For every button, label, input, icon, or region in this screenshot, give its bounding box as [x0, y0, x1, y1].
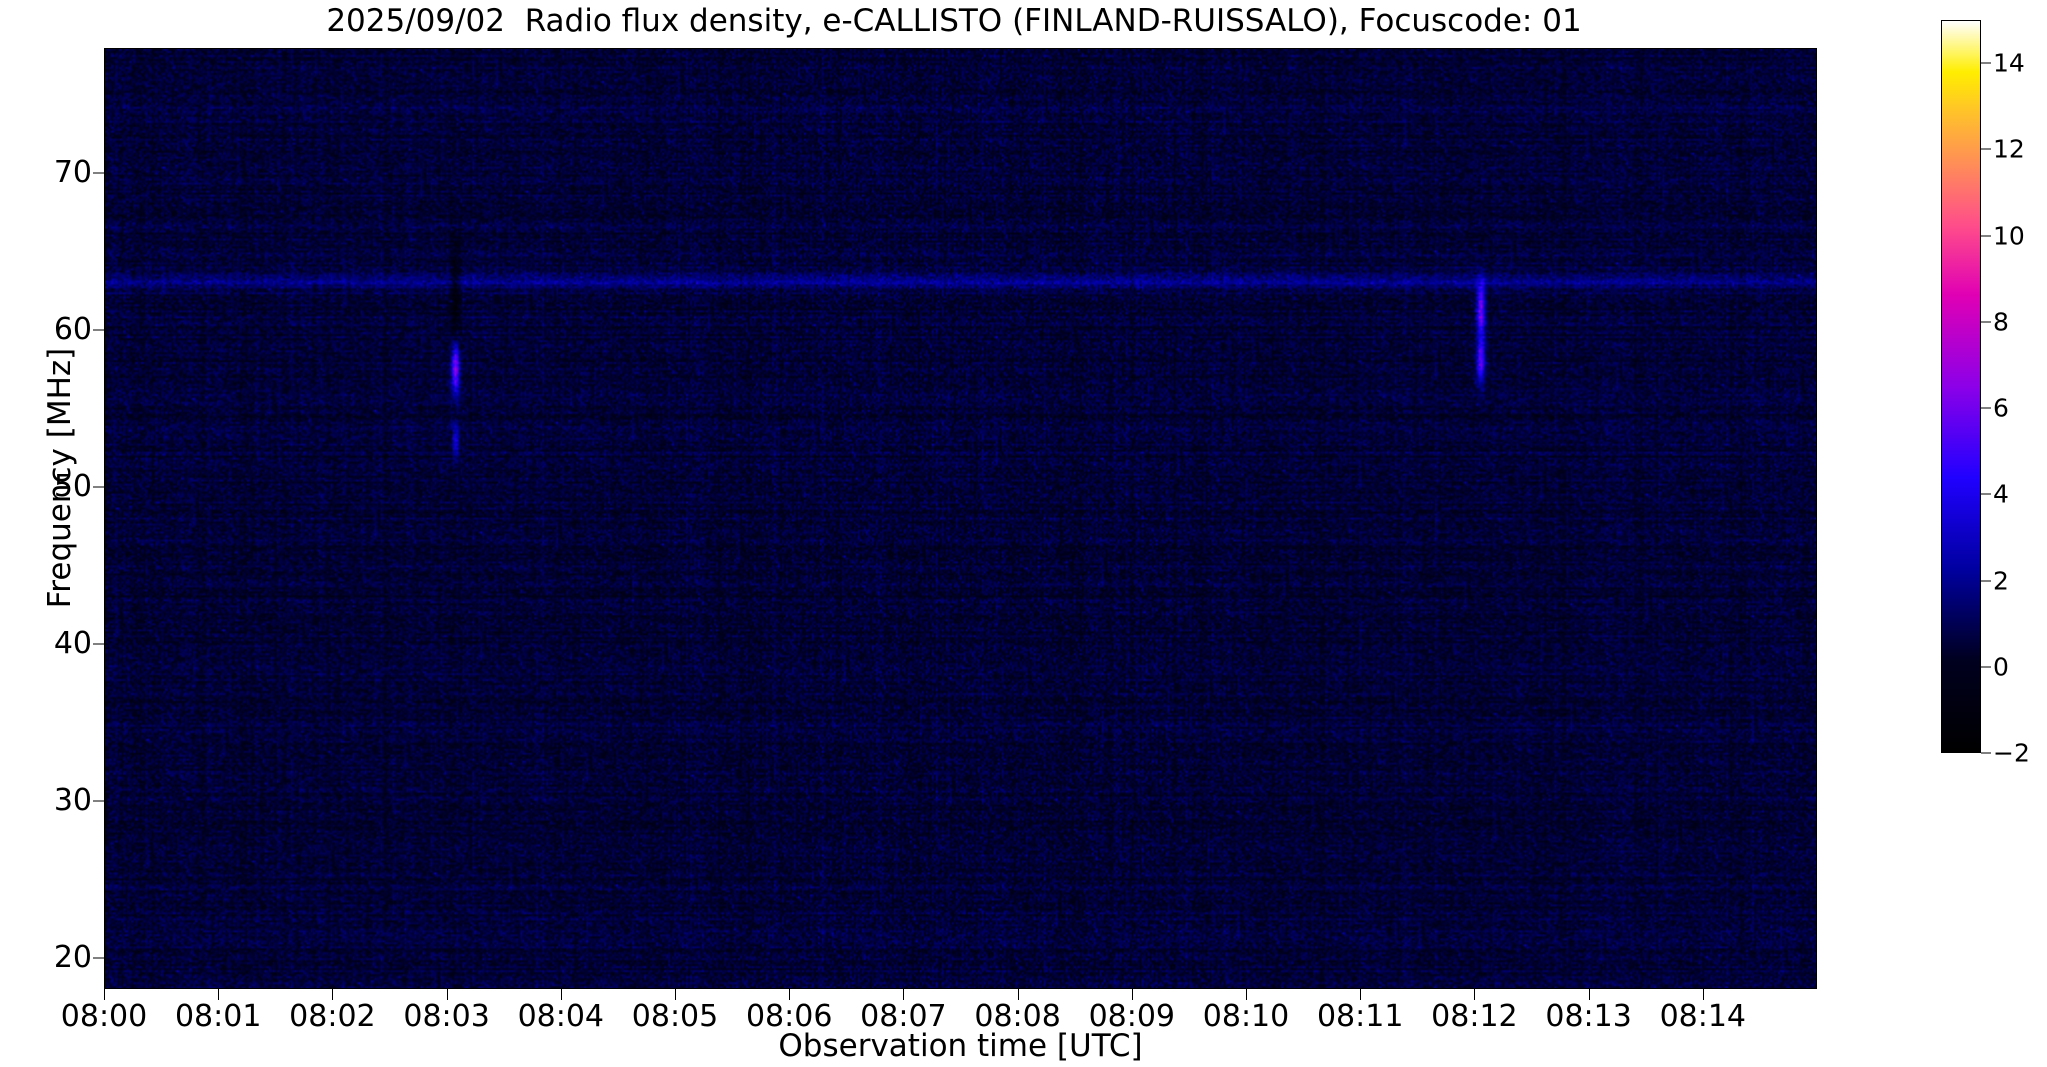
colorbar-tick-mark — [1981, 580, 1991, 581]
y-axis-tick-mark — [93, 487, 104, 488]
colorbar-tick-label: −2 — [1993, 741, 2047, 766]
y-axis-tick-mark — [93, 173, 104, 174]
spectrogram-heatmap[interactable] — [105, 49, 1816, 988]
colorbar-tick-mark — [1981, 753, 1991, 754]
colorbar-tick-mark — [1981, 408, 1991, 409]
colorbar[interactable] — [1941, 20, 1981, 753]
y-axis-tick-mark — [93, 330, 104, 331]
figure-canvas: 2025/09/02 Radio flux density, e-CALLIST… — [0, 0, 2047, 1067]
colorbar-tick-label: 2 — [1993, 568, 2047, 593]
colorbar-tick-marks — [1981, 20, 1993, 753]
colorbar-tick-mark — [1981, 149, 1991, 150]
page-title: 2025/09/02 Radio flux density, e-CALLIST… — [104, 4, 1804, 38]
y-axis-tick-mark — [93, 643, 104, 644]
colorbar-tick-mark — [1981, 235, 1991, 236]
colorbar-tick-labels: 14121086420−2 — [1993, 20, 2047, 753]
y-axis-label: Frequency [MHz] — [42, 8, 78, 948]
colorbar-tick-label: 4 — [1993, 482, 2047, 507]
colorbar-tick-label: 6 — [1993, 396, 2047, 421]
colorbar-gradient — [1942, 21, 1980, 752]
colorbar-tick-mark — [1981, 494, 1991, 495]
colorbar-tick-label: 12 — [1993, 137, 2047, 162]
colorbar-tick-mark — [1981, 63, 1991, 64]
y-axis-tick-mark — [93, 957, 104, 958]
x-axis-label: Observation time [UTC] — [104, 1028, 1817, 1064]
colorbar-tick-label: 0 — [1993, 654, 2047, 679]
spectrogram-axes[interactable] — [104, 48, 1817, 989]
y-axis-tick-marks — [92, 48, 104, 989]
colorbar-tick-label: 14 — [1993, 51, 2047, 76]
colorbar-tick-mark — [1981, 321, 1991, 322]
colorbar-tick-label: 8 — [1993, 309, 2047, 334]
colorbar-tick-mark — [1981, 666, 1991, 667]
y-axis-tick-mark — [93, 800, 104, 801]
colorbar-tick-label: 10 — [1993, 223, 2047, 248]
